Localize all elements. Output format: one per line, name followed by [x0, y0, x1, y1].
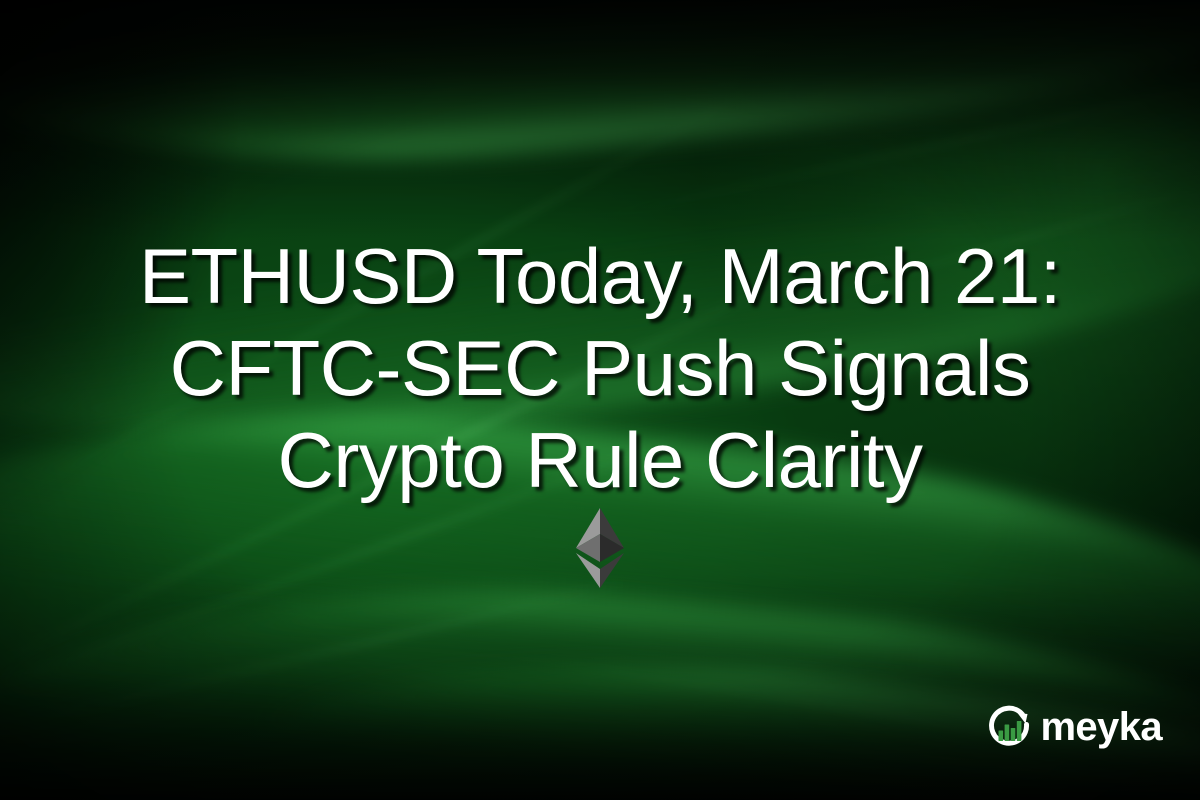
brand-wordmark: meyka — [1040, 707, 1162, 749]
ethereum-diamond-icon — [576, 508, 624, 588]
meyka-brand-lockup: meyka — [986, 704, 1162, 752]
headline-line-3: Crypto Rule Clarity — [0, 414, 1200, 506]
headline-line-2: CFTC-SEC Push Signals — [0, 322, 1200, 414]
meyka-circle-barchart-icon — [986, 704, 1034, 752]
headline-line-1: ETHUSD Today, March 21: — [0, 230, 1200, 322]
headline: ETHUSD Today, March 21: CFTC-SEC Push Si… — [0, 230, 1200, 506]
social-banner: ETHUSD Today, March 21: CFTC-SEC Push Si… — [0, 0, 1200, 800]
